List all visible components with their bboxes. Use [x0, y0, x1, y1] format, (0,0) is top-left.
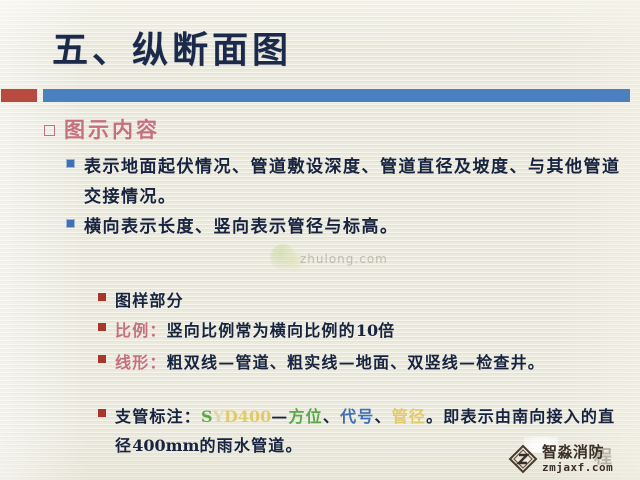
- content-heading-row: 图示内容: [44, 116, 160, 144]
- segment-label: 线形：: [115, 353, 167, 372]
- level2-bullet-row-1: 表示地面起伏情况、管道敷设深度、管道直径及坡度、与其他管道交接情况。: [66, 152, 626, 212]
- segment-dash: —: [271, 407, 288, 426]
- level2-bullet-text-2: 横向表示长度、竖向表示管径与标高。: [84, 212, 399, 242]
- level2-bullet-row-2: 横向表示长度、竖向表示管径与标高。: [66, 212, 626, 242]
- segment-symbol: 代号: [340, 407, 374, 426]
- slide-title: 五、纵断面图: [52, 22, 612, 78]
- segment-label: 支管标注：: [115, 407, 201, 426]
- corner-logo-words: 智淼消防 zmjaxf.com: [542, 445, 613, 473]
- segment-direction: 方位: [288, 407, 322, 426]
- segment-comma: 、: [323, 407, 340, 426]
- level3-bullet-row-3: 线形：粗双线—管道、粗实线—地面、双竖线—检查井。: [98, 348, 618, 377]
- corner-logo-url: zmjaxf.com: [542, 462, 613, 473]
- blue-square-bullet-icon: [66, 219, 75, 228]
- presentation-slide: 五、纵断面图 图示内容 表示地面起伏情况、管道敷设深度、管道直径及坡度、与其他管…: [0, 0, 640, 480]
- divider-blue-bar: [42, 88, 631, 103]
- slide-body: 图示内容 表示地面起伏情况、管道敷设深度、管道直径及坡度、与其他管道交接情况。 …: [0, 108, 640, 480]
- segment-label: 比例：: [115, 321, 167, 340]
- segment-text: 倍: [378, 321, 395, 340]
- red-square-bullet-icon: [98, 409, 106, 417]
- segment-code-y: Y: [213, 407, 224, 426]
- segment-diameter: 管径: [392, 407, 426, 426]
- segment-text: 竖向比例常为横向比例的: [167, 321, 356, 340]
- blue-square-bullet-icon: [66, 159, 75, 168]
- corner-watermark-logo: 智淼消防 zmjaxf.com: [508, 441, 632, 477]
- segment-code-s: S: [201, 407, 213, 426]
- hollow-square-bullet-icon: [44, 125, 55, 136]
- diamond-logo-icon: [508, 444, 538, 474]
- level3-bullet-row-2: 比例：竖向比例常为横向比例的10倍: [98, 316, 618, 345]
- content-heading-text: 图示内容: [64, 116, 160, 144]
- level2-bullet-text-1: 表示地面起伏情况、管道敷设深度、管道直径及坡度、与其他管道交接情况。: [84, 152, 626, 212]
- slide-title-block: 五、纵断面图: [52, 22, 612, 82]
- divider-red-block: [0, 88, 38, 103]
- title-divider: [0, 87, 640, 105]
- segment-measure: 400mm: [132, 436, 199, 455]
- segment-text: 粗双线—管道、粗实线—地面、双竖线—检查井。: [167, 353, 545, 372]
- level3-bullet-row-1: 图样部分: [98, 286, 618, 315]
- level3-bullet-text-2: 比例：竖向比例常为横向比例的10倍: [115, 316, 395, 345]
- segment-text: 图样部分: [115, 291, 184, 310]
- red-square-bullet-icon: [98, 293, 106, 301]
- level3-bullet-text-1: 图样部分: [115, 286, 184, 315]
- segment-comma: 、: [375, 407, 392, 426]
- corner-logo-chinese: 智淼消防: [542, 445, 613, 460]
- segment-text: 的雨水管道。: [199, 436, 302, 455]
- red-square-bullet-icon: [98, 355, 106, 363]
- segment-code-d400: D400: [224, 407, 271, 426]
- level3-bullet-text-3: 线形：粗双线—管道、粗实线—地面、双竖线—检查井。: [115, 348, 545, 377]
- red-square-bullet-icon: [98, 323, 106, 331]
- segment-number: 10: [356, 321, 378, 340]
